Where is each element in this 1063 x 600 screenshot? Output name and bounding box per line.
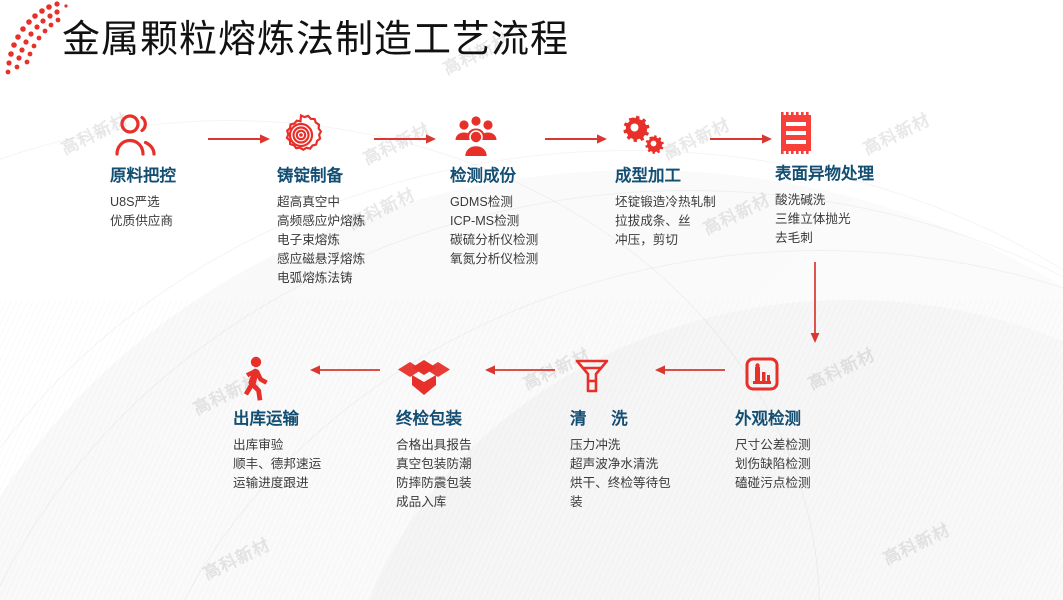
user-group-icon <box>450 112 538 158</box>
step-items: 超高真空中 高频感应炉熔炼 电子束熔炼 感应磁悬浮熔炼 电弧熔炼法铸 <box>277 193 365 288</box>
step-title: 成型加工 <box>615 162 716 186</box>
step-title: 清 洗 <box>570 405 682 429</box>
step-item: 划伤缺陷检测 <box>735 455 811 474</box>
step-item: GDMS检测 <box>450 193 538 212</box>
walking-person-icon <box>233 355 321 401</box>
step-items: 坯锭锻造冷热轧制 拉拔成条、丝 冲压，剪切 <box>615 193 716 250</box>
step-item: 坯锭锻造冷热轧制 <box>615 193 716 212</box>
arrow-right-1 <box>208 134 270 144</box>
flow-step-cleaning[interactable]: 清 洗 压力冲洗 超声波净水清洗 烘干、终检等待包装 <box>570 355 682 512</box>
step-item: 酸洗碱洗 <box>775 191 874 210</box>
step-item: 成品入库 <box>396 493 472 512</box>
arrow-right-2 <box>374 134 436 144</box>
flow-step-outbound-transport[interactable]: 出库运输 出库审验 顺丰、德邦速运 运输进度跟进 <box>233 355 321 493</box>
step-item: 三维立体抛光 <box>775 210 874 229</box>
step-item: 压力冲洗 <box>570 436 682 455</box>
watermark: 高科新材 <box>198 530 274 584</box>
slide-canvas: 高科新材 高科新材 高科新材 高科新材 高科新材 高科新材 高科新材 高科新材 … <box>0 0 1063 600</box>
funnel-icon <box>570 355 682 401</box>
step-item: 顺丰、德邦速运 <box>233 455 321 474</box>
step-title: 检测成份 <box>450 162 538 186</box>
step-item: U8S严选 <box>110 193 176 212</box>
step-item: 冲压，剪切 <box>615 231 716 250</box>
step-item: 碳硫分析仪检测 <box>450 231 538 250</box>
step-title: 表面异物处理 <box>775 160 874 184</box>
step-items: U8S严选 优质供应商 <box>110 193 176 231</box>
gear-rings-icon <box>277 112 365 158</box>
step-items: GDMS检测 ICP-MS检测 碳硫分析仪检测 氧氮分析仪检测 <box>450 193 538 269</box>
flow-step-surface-treatment[interactable]: 表面异物处理 酸洗碱洗 三维立体抛光 去毛刺 <box>775 110 874 248</box>
page-title: 金属颗粒熔炼法制造工艺流程 <box>62 8 569 63</box>
arrow-down-connector <box>810 262 820 344</box>
flow-step-appearance-inspection[interactable]: 外观检测 尺寸公差检测 划伤缺陷检测 磕碰污点检测 <box>735 355 811 493</box>
flow-step-composition-testing[interactable]: 检测成份 GDMS检测 ICP-MS检测 碳硫分析仪检测 氧氮分析仪检测 <box>450 112 538 269</box>
watermark: 高科新材 <box>878 515 954 569</box>
flow-step-raw-material-control[interactable]: 原料把控 U8S严选 优质供应商 <box>110 112 176 231</box>
arrow-left-2 <box>485 365 555 375</box>
step-item: 防摔防震包装 <box>396 474 472 493</box>
two-users-icon <box>110 112 176 158</box>
step-item: 真空包装防潮 <box>396 455 472 474</box>
step-item: 优质供应商 <box>110 212 176 231</box>
step-item: 烘干、终检等待包装 <box>570 474 682 512</box>
step-item: 氧氮分析仪检测 <box>450 250 538 269</box>
open-box-icon <box>396 355 472 401</box>
step-item: 合格出具报告 <box>396 436 472 455</box>
step-title: 原料把控 <box>110 162 176 186</box>
arrow-right-3 <box>545 134 607 144</box>
step-item: 出库审验 <box>233 436 321 455</box>
arrow-right-4 <box>710 134 772 144</box>
step-item: 电弧熔炼法铸 <box>277 269 365 288</box>
step-item: 磕碰污点检测 <box>735 474 811 493</box>
step-item: ICP-MS检测 <box>450 212 538 231</box>
flow-step-ingot-preparation[interactable]: 铸锭制备 超高真空中 高频感应炉熔炼 电子束熔炼 感应磁悬浮熔炼 电弧熔炼法铸 <box>277 112 365 288</box>
step-item: 电子束熔炼 <box>277 231 365 250</box>
step-item: 超高真空中 <box>277 193 365 212</box>
step-item: 高频感应炉熔炼 <box>277 212 365 231</box>
step-items: 压力冲洗 超声波净水清洗 烘干、终检等待包装 <box>570 436 682 512</box>
flow-step-forming-processing[interactable]: 成型加工 坯锭锻造冷热轧制 拉拔成条、丝 冲压，剪切 <box>615 112 716 250</box>
step-items: 合格出具报告 真空包装防潮 防摔防震包装 成品入库 <box>396 436 472 512</box>
step-title: 终检包装 <box>396 405 472 429</box>
perforated-sheet-icon <box>775 110 874 156</box>
step-items: 酸洗碱洗 三维立体抛光 去毛刺 <box>775 191 874 248</box>
watermark: 高科新材 <box>803 340 879 394</box>
step-item: 去毛刺 <box>775 229 874 248</box>
step-title: 铸锭制备 <box>277 162 365 186</box>
inspection-frame-icon <box>735 355 811 401</box>
step-item: 运输进度跟进 <box>233 474 321 493</box>
flow-step-final-inspection-packaging[interactable]: 终检包装 合格出具报告 真空包装防潮 防摔防震包装 成品入库 <box>396 355 472 512</box>
step-item: 超声波净水清洗 <box>570 455 682 474</box>
step-title: 出库运输 <box>233 405 321 429</box>
double-gear-icon <box>615 112 716 158</box>
step-item: 拉拔成条、丝 <box>615 212 716 231</box>
background-hatch-texture <box>0 300 1063 600</box>
step-item: 感应磁悬浮熔炼 <box>277 250 365 269</box>
step-item: 尺寸公差检测 <box>735 436 811 455</box>
step-title: 外观检测 <box>735 405 811 429</box>
background-decoration <box>0 0 1063 600</box>
step-items: 出库审验 顺丰、德邦速运 运输进度跟进 <box>233 436 321 493</box>
step-items: 尺寸公差检测 划伤缺陷检测 磕碰污点检测 <box>735 436 811 493</box>
